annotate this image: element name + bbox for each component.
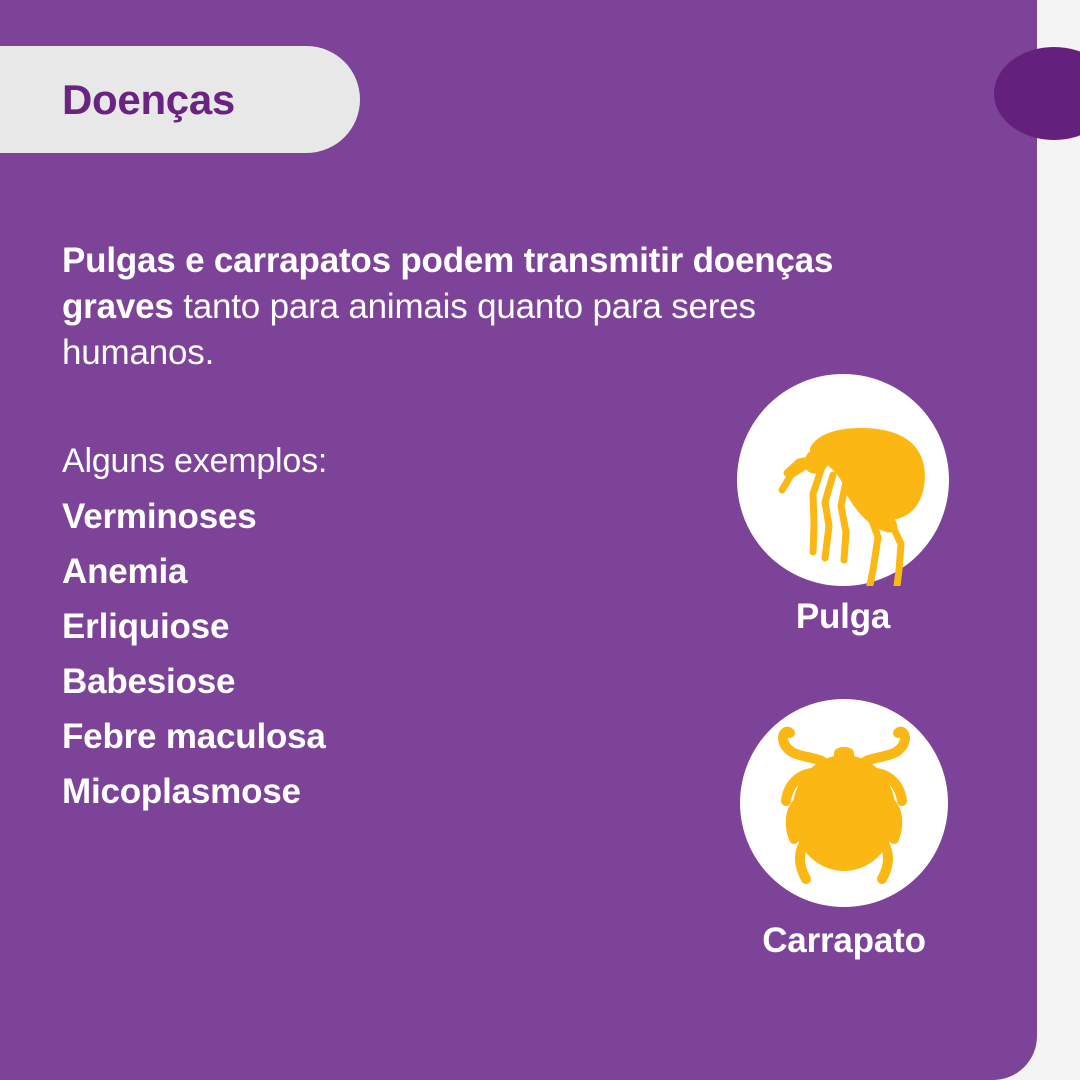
tick-head — [832, 747, 856, 769]
list-item: Febre maculosa — [62, 709, 662, 764]
examples-block: Alguns exemplos: Verminoses Anemia Erliq… — [62, 434, 662, 819]
creature-badge-flea: Pulga — [737, 374, 949, 637]
examples-list: Verminoses Anemia Erliquiose Babesiose F… — [62, 489, 662, 819]
list-item: Anemia — [62, 544, 662, 599]
right-edge-panel — [1035, 0, 1080, 1080]
creature-badge-tick: Carrapato — [740, 699, 948, 961]
tick-icon — [740, 699, 948, 907]
list-item: Erliquiose — [62, 599, 662, 654]
flea-circle — [737, 374, 949, 586]
intro-paragraph: Pulgas e carrapatos podem transmitir doe… — [62, 238, 852, 376]
list-item: Babesiose — [62, 654, 662, 709]
list-item: Micoplasmose — [62, 764, 662, 819]
examples-lead-label: Alguns exemplos: — [62, 434, 662, 489]
list-item: Verminoses — [62, 489, 662, 544]
page-title: Doenças — [62, 79, 235, 121]
creature-label-flea: Pulga — [796, 598, 890, 637]
flea-icon — [737, 374, 949, 586]
header-pill: Doenças — [0, 46, 360, 153]
infographic-canvas: Doenças Pulgas e carrapatos podem transm… — [0, 0, 1080, 1080]
tick-circle — [740, 699, 948, 907]
creature-label-tick: Carrapato — [762, 922, 926, 961]
